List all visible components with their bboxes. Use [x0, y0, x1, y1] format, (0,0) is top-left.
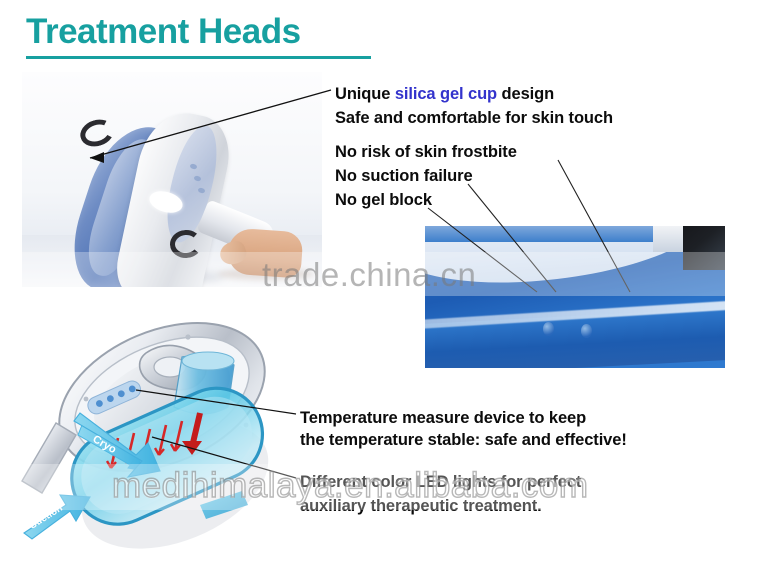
feature-line-1-suffix: design — [497, 85, 554, 103]
benefit-line-3: Different color LED lights for perfect — [300, 473, 581, 492]
page-title: Treatment Heads — [26, 14, 376, 51]
feature-line-1-prefix: Unique — [335, 85, 395, 103]
diagram-handle-stub — [22, 423, 76, 493]
bluecup-vent-dot — [543, 322, 554, 336]
title-underline — [26, 56, 371, 59]
benefit-line-4: auxiliary therapeutic treatment. — [300, 497, 542, 516]
bluecup-corner-dark — [683, 226, 725, 270]
housing-screw — [84, 397, 89, 402]
housing-screw — [185, 334, 190, 339]
treatment-head-diagram: Cryo Suction — [10, 305, 340, 567]
diagram-svg: Cryo Suction — [10, 305, 340, 567]
title-block: Treatment Heads — [26, 14, 376, 51]
feature-line-5: No gel block — [335, 191, 432, 210]
bluecup-corner-light — [653, 226, 687, 252]
slide-canvas: Treatment Heads — [0, 0, 773, 572]
suction-arrow: Suction — [24, 495, 90, 539]
bluecup-photo — [425, 226, 725, 368]
feature-line-1-highlight: silica gel cup — [395, 85, 497, 103]
feature-line-2: Safe and comfortable for skin touch — [335, 109, 613, 128]
feature-line-4: No suction failure — [335, 167, 473, 186]
device-photo — [22, 72, 322, 287]
feature-line-3: No risk of skin frostbite — [335, 143, 517, 162]
benefit-line-1: Temperature measure device to keep — [300, 409, 586, 428]
feature-line-1: Unique silica gel cup design — [335, 85, 554, 104]
bluecup-vent-dot — [581, 324, 592, 338]
benefit-line-2: the temperature stable: safe and effecti… — [300, 431, 627, 450]
